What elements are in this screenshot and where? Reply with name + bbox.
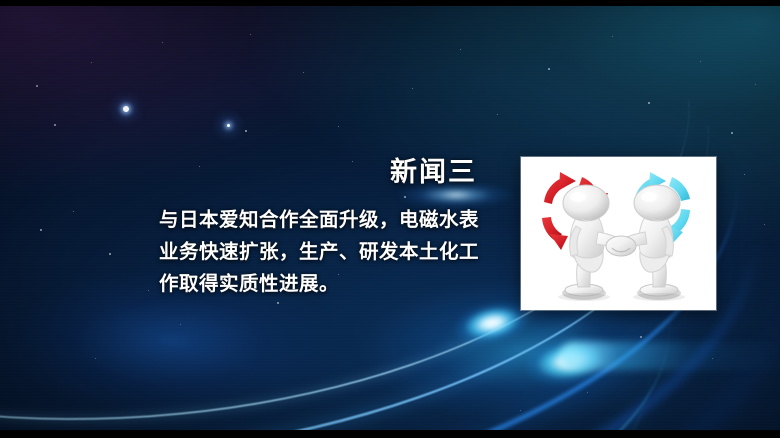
letterbox-top-bar xyxy=(0,0,780,6)
slide-content: 新闻三 与日本爱知合作全面升级，电磁水表 业务快速扩张，生产、研发本土化工 作取… xyxy=(0,0,780,438)
body-line-2: 业务快速扩张，生产、研发本土化工 xyxy=(159,236,511,268)
news-slide: 新闻三 与日本爱知合作全面升级，电磁水表 业务快速扩张，生产、研发本土化工 作取… xyxy=(0,0,780,438)
handshake-photo-card xyxy=(521,157,716,310)
page-title: 新闻三 xyxy=(390,150,477,189)
handshake-illustration xyxy=(524,160,713,307)
handshake-icon xyxy=(524,160,713,307)
news-body-text: 与日本爱知合作全面升级，电磁水表 业务快速扩张，生产、研发本土化工 作取得实质性… xyxy=(159,204,511,300)
letterbox-bottom-bar xyxy=(0,430,780,438)
body-line-1: 与日本爱知合作全面升级，电磁水表 xyxy=(159,204,511,236)
clasped-hands xyxy=(606,236,636,256)
body-line-3: 作取得实质性进展。 xyxy=(159,268,511,300)
